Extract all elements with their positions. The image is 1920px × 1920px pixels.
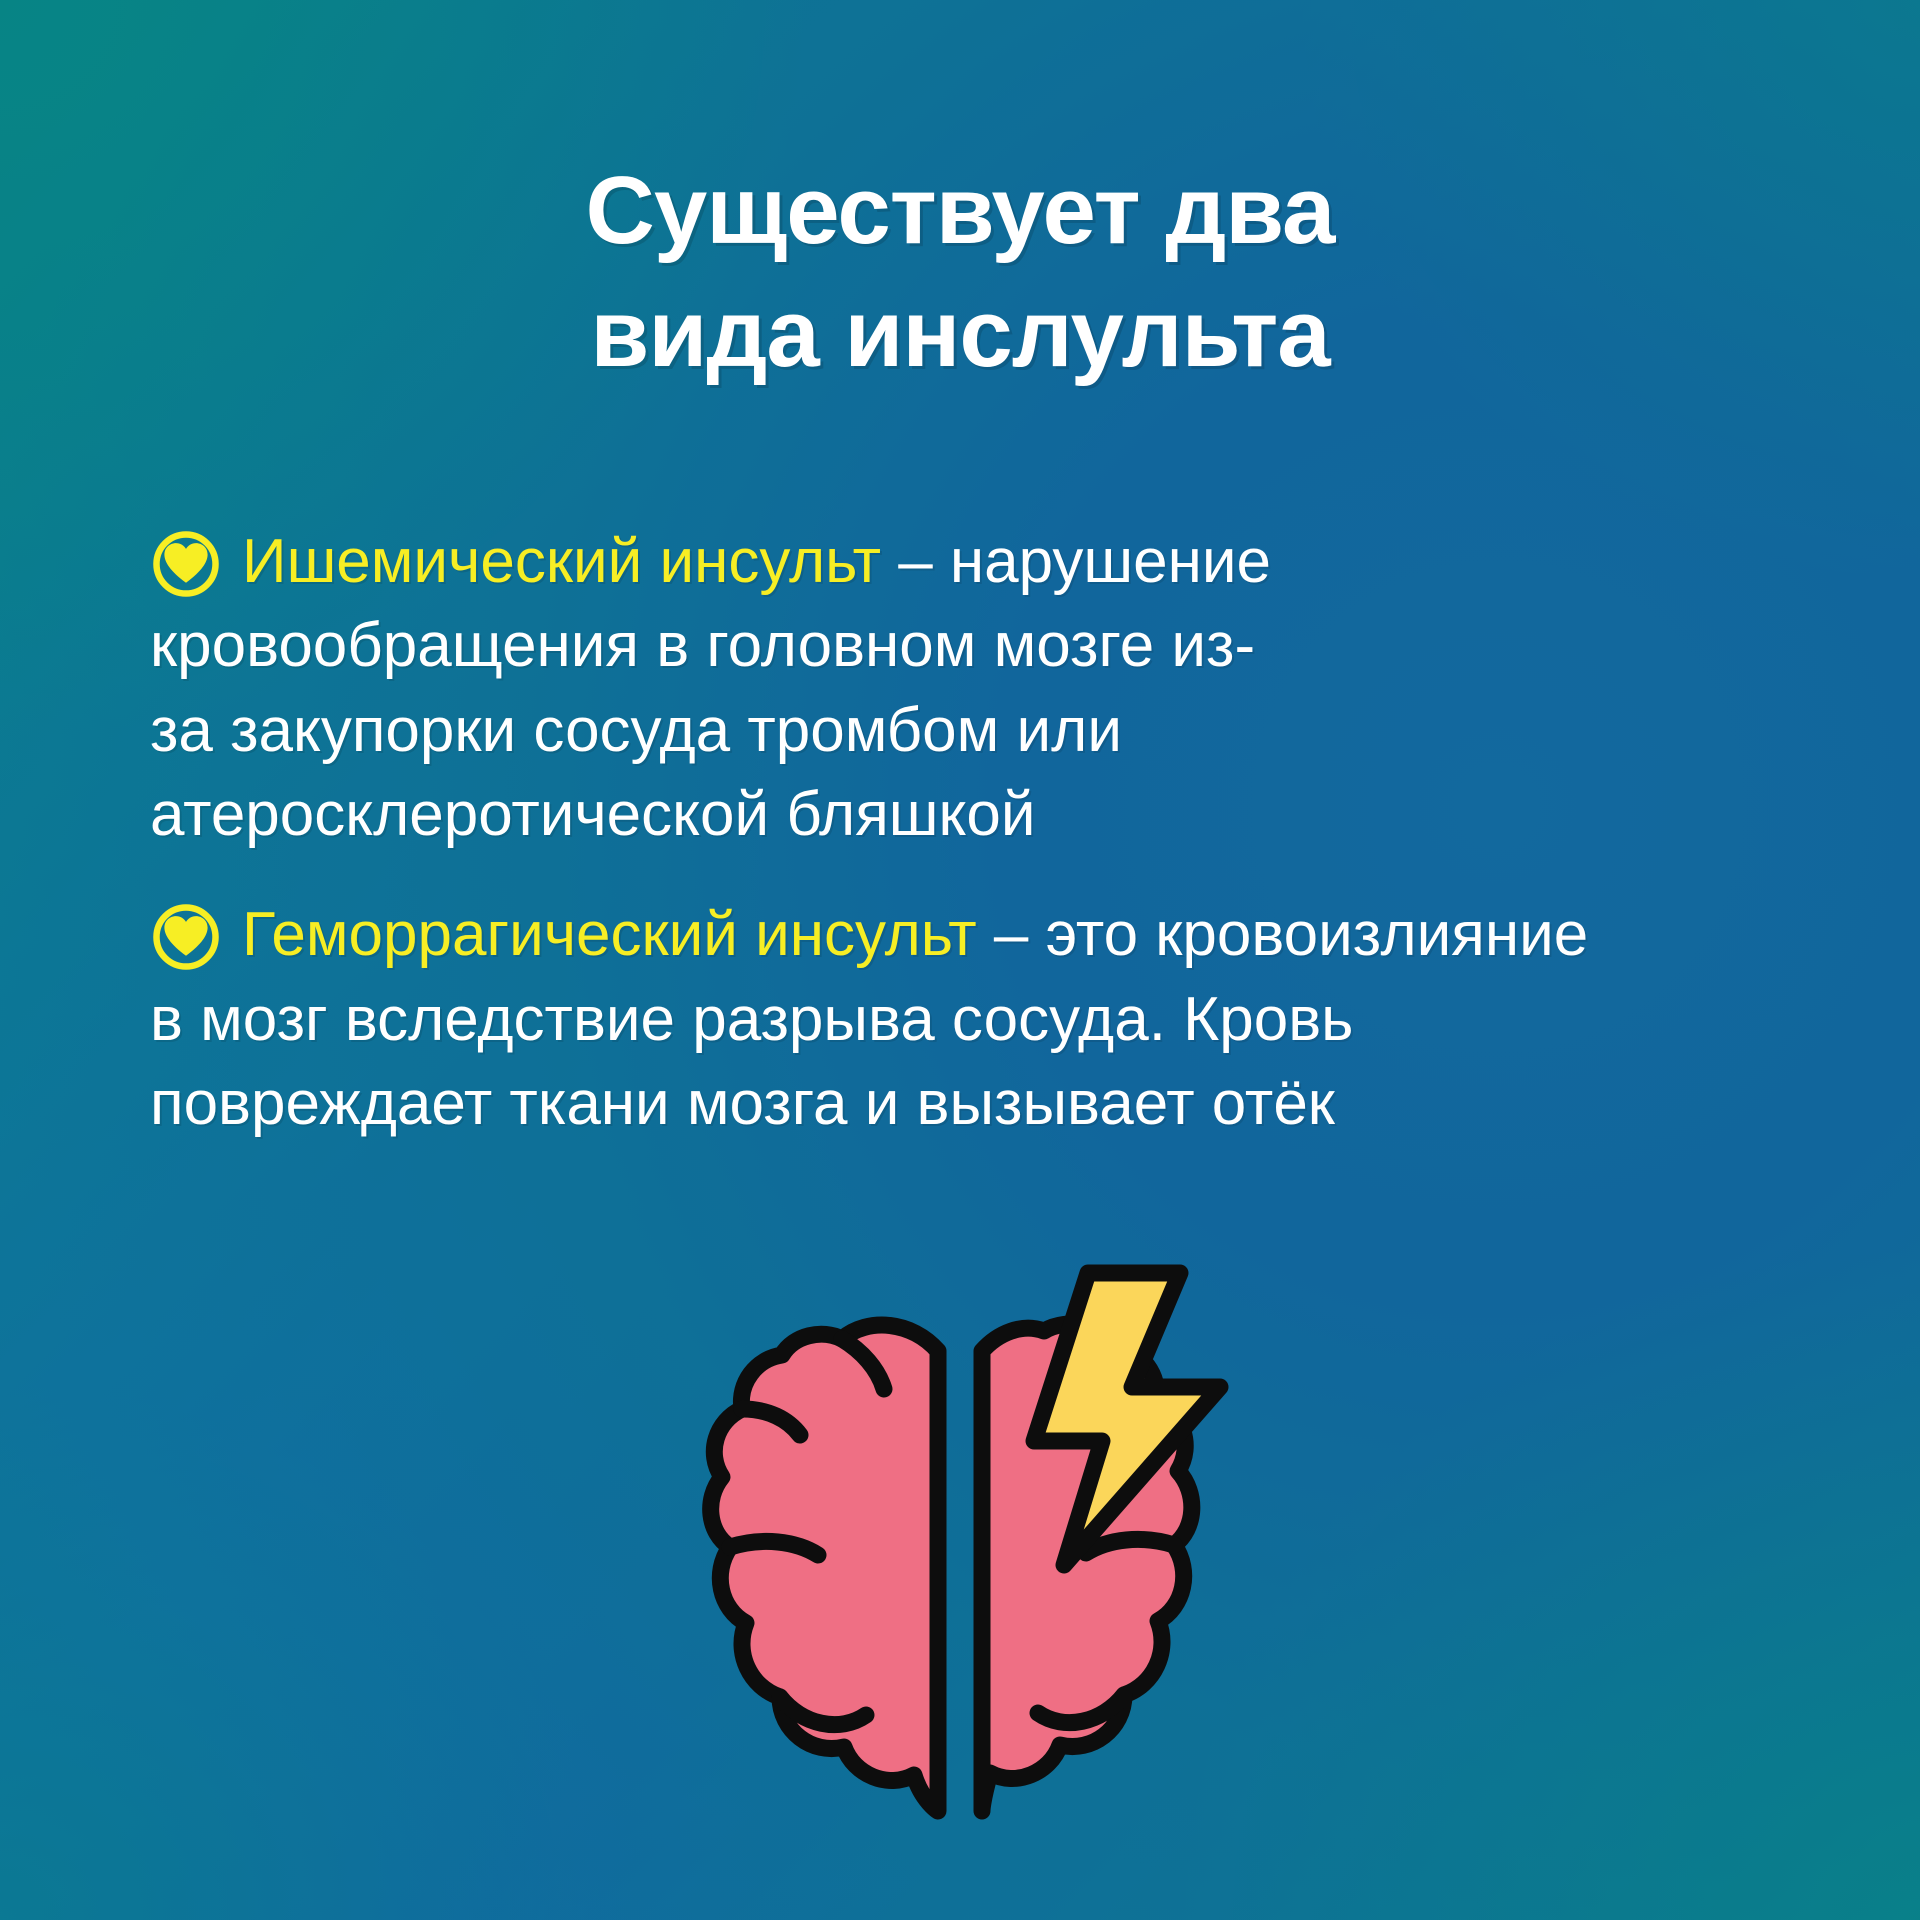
page-title: Существует два вида инслульта [0,150,1920,396]
stroke-types-list: Ишемический инсульт – нарушение кровообр… [150,520,1830,1182]
infographic-card: Существует два вида инслульта Ишемически… [0,0,1920,1920]
term-hemorrhagic-stroke: Геморрагический инсульт [242,900,977,969]
term-suffix: – нарушение [881,527,1271,596]
brain-left-hemisphere [711,1325,938,1811]
body-line: кровообращения в головном мозге из- [150,611,1255,680]
body-line: повреждает ткани мозга и вызывает отёк [150,1069,1335,1138]
list-item-hemorrhagic-stroke: Геморрагический инсульт – это кровоизлия… [150,893,1830,1146]
term-ischemic-stroke: Ишемический инсульт [242,527,881,596]
heart-in-circle-icon [150,901,222,973]
title-line-2: вида инслульта [0,273,1920,396]
heart-in-circle-icon [150,528,222,600]
title-line-1: Существует два [0,150,1920,273]
body-line: в мозг вследствие разрыва сосуда. Кровь [150,985,1353,1054]
body-line: за закупорки сосуда тромбом или [150,696,1122,765]
list-item-ischemic-stroke: Ишемический инсульт – нарушение кровообр… [150,520,1830,857]
term-suffix: – это кровоизлияние [977,900,1589,969]
list-item-text: Ишемический инсульт – нарушение кровообр… [150,520,1830,857]
brain-with-lightning-bolt-illustration [650,1255,1270,1875]
list-item-text: Геморрагический инсульт – это кровоизлия… [150,893,1830,1146]
body-line: атеросклеротической бляшкой [150,780,1035,849]
